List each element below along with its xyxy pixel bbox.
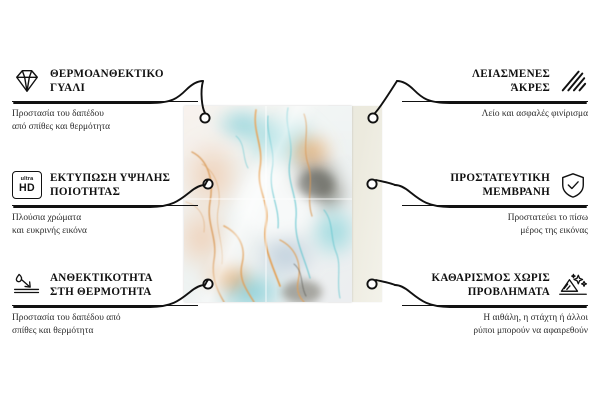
polished-edges-icon — [558, 67, 588, 95]
feature-description: Η αιθάλη, η στάχτη ή άλλοι ρύποι μπορούν… — [402, 312, 588, 339]
feature-title: ΛΕΙΑΣΜΕΝΕΣ ΆΚΡΕΣ — [472, 67, 550, 95]
feature-heat-resistant-glass: ΘΕΡΜΟΑΝΘΕΚΤΙΚΟ ΓΥΑΛΙ Προστασία του δαπέδ… — [12, 64, 198, 135]
feature-title: ΑΝΘΕΚΤΙΚΟΤΗΤΑ ΣΤΗ ΘΕΡΜΟΤΗΤΑ — [50, 271, 153, 299]
easy-clean-sponge-icon — [558, 271, 588, 299]
feature-header: ΚΑΘΑΡΙΣΜΟΣ ΧΩΡΙΣ ΠΡΟΒΛΗΜΑΤΑ — [402, 268, 588, 302]
feature-divider — [402, 101, 588, 102]
feature-title: ΘΕΡΜΟΑΝΘΕΚΤΙΚΟ ΓΥΑΛΙ — [50, 67, 164, 95]
feature-description: Προστατεύει το πίσω μέρος της εικόνας — [402, 212, 588, 239]
feature-polished-edges: ΛΕΙΑΣΜΕΝΕΣ ΆΚΡΕΣ Λείο και ασφαλές φινίρι… — [402, 64, 588, 121]
feature-description: Πλούσια χρώματα και ευκρινής εικόνα — [12, 212, 198, 239]
feature-divider — [402, 305, 588, 306]
feature-heat-durability: ΑΝΘΕΚΤΙΚΟΤΗΤΑ ΣΤΗ ΘΕΡΜΟΤΗΤΑ Προστασία το… — [12, 268, 198, 339]
feature-description: Προστασία του δαπέδου από σπίθες και θερ… — [12, 312, 198, 339]
feature-header: ΛΕΙΑΣΜΕΝΕΣ ΆΚΡΕΣ — [402, 64, 588, 98]
feature-title: ΕΚΤΥΠΩΣΗ ΥΨΗΛΗΣ ΠΟΙΟΤΗΤΑΣ — [50, 171, 170, 199]
glass-artwork — [184, 106, 352, 302]
feature-protective-membrane: ΠΡΟΣΤΑΤΕΥΤΙΚΗ ΜΕΜΒΡΑΝΗ Προστατεύει το πί… — [402, 168, 588, 239]
feature-header: ΠΡΟΣΤΑΤΕΥΤΙΚΗ ΜΕΜΒΡΑΝΗ — [402, 168, 588, 202]
product-image — [184, 106, 382, 302]
feature-title: ΠΡΟΣΤΑΤΕΥΤΙΚΗ ΜΕΜΒΡΑΝΗ — [450, 171, 550, 199]
feature-divider — [12, 305, 198, 306]
feature-divider — [12, 205, 198, 206]
feature-description: Λείο και ασφαλές φινίρισμα — [402, 108, 588, 121]
shield-check-icon — [558, 171, 588, 199]
heat-deflection-icon — [12, 271, 42, 299]
glass-sheen — [184, 106, 352, 302]
feature-divider — [402, 205, 588, 206]
feature-description: Προστασία του δαπέδου από σπίθες και θερ… — [12, 108, 198, 135]
feature-header: ultra HD ΕΚΤΥΠΩΣΗ ΥΨΗΛΗΣ ΠΟΙΟΤΗΤΑΣ — [12, 168, 198, 202]
feature-divider — [12, 101, 198, 102]
feature-header: ΑΝΘΕΚΤΙΚΟΤΗΤΑ ΣΤΗ ΘΕΡΜΟΤΗΤΑ — [12, 268, 198, 302]
feature-title: ΚΑΘΑΡΙΣΜΟΣ ΧΩΡΙΣ ΠΡΟΒΛΗΜΑΤΑ — [431, 271, 550, 299]
feature-header: ΘΕΡΜΟΑΝΘΕΚΤΙΚΟ ΓΥΑΛΙ — [12, 64, 198, 98]
feature-high-quality-print: ultra HD ΕΚΤΥΠΩΣΗ ΥΨΗΛΗΣ ΠΟΙΟΤΗΤΑΣ Πλούσ… — [12, 168, 198, 239]
diamond-icon — [12, 67, 42, 95]
infographic-canvas: ΘΕΡΜΟΑΝΘΕΚΤΙΚΟ ΓΥΑΛΙ Προστασία του δαπέδ… — [0, 0, 600, 400]
feature-easy-cleaning: ΚΑΘΑΡΙΣΜΟΣ ΧΩΡΙΣ ΠΡΟΒΛΗΜΑΤΑ Η αιθάλη, η … — [402, 268, 588, 339]
ultra-hd-badge-icon: ultra HD — [12, 171, 42, 199]
